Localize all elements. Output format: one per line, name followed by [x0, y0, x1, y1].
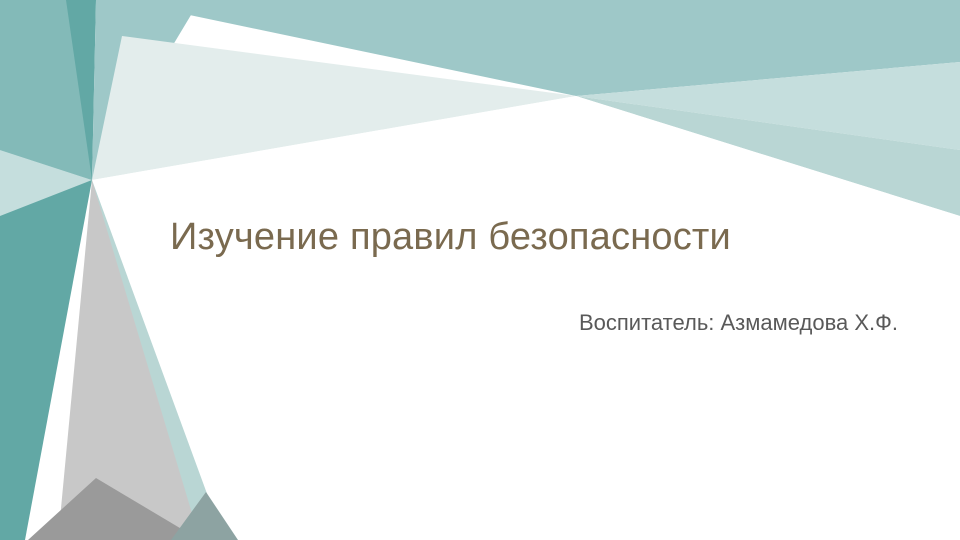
page-title: Изучение правил безопасности — [170, 214, 870, 260]
slide-content-layer: Изучение правил безопасности Воспитатель… — [0, 0, 960, 540]
title-placeholder: Изучение правил безопасности — [170, 214, 870, 260]
slide-subtitle: Воспитатель: Азмамедова Х.Ф. — [260, 308, 898, 338]
presentation-slide: Изучение правил безопасности Воспитатель… — [0, 0, 960, 540]
subtitle-placeholder: Воспитатель: Азмамедова Х.Ф. — [260, 308, 898, 338]
